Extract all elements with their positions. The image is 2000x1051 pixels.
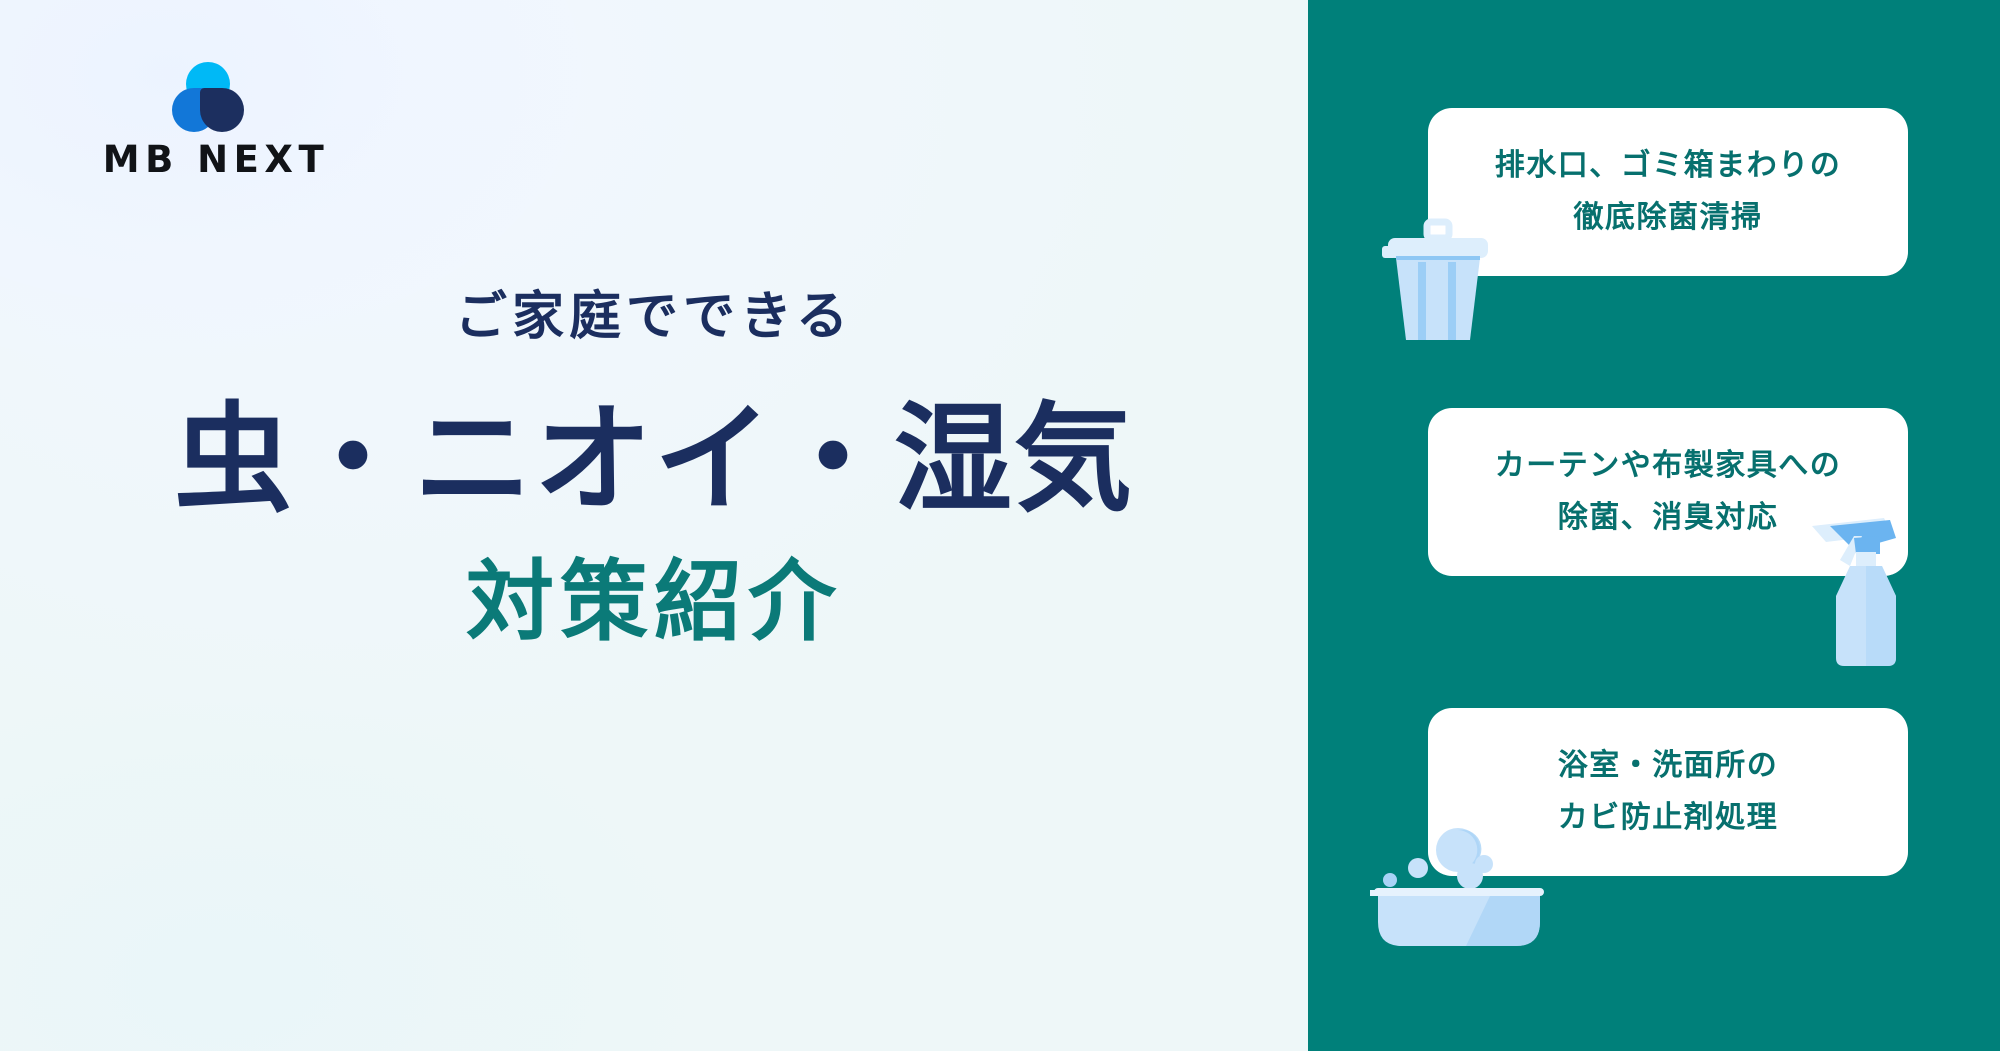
- page-subtitle: 対策紹介: [0, 546, 1308, 656]
- spray-bottle-icon: [1810, 508, 1918, 668]
- three-petal-circles-logo-icon: [172, 62, 244, 128]
- trash-bin-icon: [1382, 212, 1494, 340]
- bathtub-icon: [1370, 818, 1548, 950]
- background-wash-bottom-left: [0, 671, 720, 1051]
- feature-card-line: 徹底除菌清掃: [1574, 192, 1763, 245]
- feature-panel: 排水口、ゴミ箱まわりの 徹底除菌清掃 カーテンや布製家具への 除菌、消臭対応 浴…: [1308, 0, 2000, 1051]
- headline-eyebrow: ご家庭でできる: [0, 286, 1308, 348]
- feature-card-line: カビ防止剤処理: [1558, 792, 1779, 845]
- feature-card-drain-trash-sanitizing[interactable]: 排水口、ゴミ箱まわりの 徹底除菌清掃: [1428, 108, 1908, 276]
- feature-card-line: 浴室・洗面所の: [1558, 740, 1779, 793]
- logo-petal-bottom-right-icon: [200, 88, 244, 132]
- brand-logo: MB NEXT: [96, 62, 336, 181]
- slide-canvas: MB NEXT ご家庭でできる 虫・ニオイ・湿気 対策紹介: [0, 0, 2000, 1051]
- feature-card-line: カーテンや布製家具への: [1495, 440, 1842, 493]
- headline-block: ご家庭でできる 虫・ニオイ・湿気 対策紹介: [0, 286, 1308, 656]
- page-title: 虫・ニオイ・湿気: [0, 380, 1308, 539]
- feature-card-line: 排水口、ゴミ箱まわりの: [1495, 140, 1842, 193]
- brand-wordmark: MB NEXT: [96, 138, 336, 181]
- feature-card-line: 除菌、消臭対応: [1558, 492, 1779, 545]
